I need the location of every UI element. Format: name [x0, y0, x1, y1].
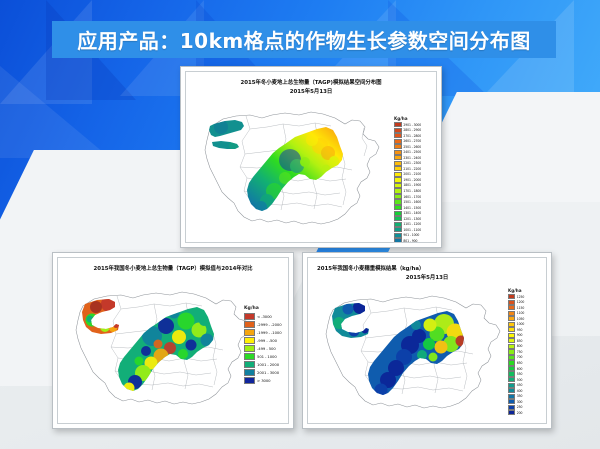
- legend-row: 2601 - 2700: [394, 139, 421, 144]
- china-map-tagp: [192, 98, 388, 238]
- legend-label: -2999 - -2000: [257, 322, 282, 327]
- legend-row: > 3000: [244, 377, 282, 384]
- legend-swatch: [508, 410, 515, 415]
- legend-label: 1001 - 2000: [257, 362, 279, 367]
- legend-swatch: [394, 216, 402, 221]
- legend-row: 600: [508, 366, 524, 371]
- legend-label: 1100: [517, 311, 524, 315]
- legend-row: 500: [508, 377, 524, 382]
- legend-swatch: [244, 353, 255, 360]
- legend-swatch: [394, 128, 402, 133]
- legend-row: 2401 - 2500: [394, 150, 421, 155]
- legend-swatch: [244, 313, 255, 320]
- legend-swatch: [394, 199, 402, 204]
- legend-swatch: [508, 405, 515, 410]
- legend-label: 1001 - 1100: [403, 228, 421, 232]
- legend-row: 700: [508, 355, 524, 360]
- panel-top-title-line2: 2015年5月13日: [186, 88, 436, 96]
- legend-swatch: [508, 316, 515, 321]
- legend-label: 350: [517, 394, 523, 398]
- panel-inner: 2015年我国冬小麦地上总生物量（TAGP）模拟值与2014年对比: [57, 257, 289, 424]
- legend-label: 2601 - 2700: [403, 139, 421, 143]
- legend-label: 901 - 1000: [403, 233, 419, 237]
- legend-row: 1301 - 1400: [394, 211, 421, 216]
- legend-row: 1150: [508, 305, 524, 310]
- legend-swatch: [394, 155, 402, 160]
- legend-label: 1701 - 1800: [403, 189, 421, 193]
- legend-label: > 3000: [257, 378, 270, 383]
- slide-title-bar: 应用产品：10km格点的作物生长参数空间分布图: [52, 21, 556, 58]
- legend-row: -1999 - -1000: [244, 329, 282, 336]
- legend-swatch: [394, 205, 402, 210]
- page-title: 应用产品：10km格点的作物生长参数空间分布图: [77, 25, 530, 54]
- legend-label: 2201 - 2300: [403, 161, 421, 165]
- legend-swatch: [394, 144, 402, 149]
- legend-swatch: [508, 399, 515, 404]
- legend-label: 250: [517, 405, 523, 409]
- legend-label: 1501 - 1600: [403, 200, 421, 204]
- legend-row: 1201 - 1300: [394, 216, 421, 221]
- legend-label: -999 - -500: [257, 338, 277, 343]
- map-svg: [63, 278, 249, 418]
- legend-swatch: [508, 294, 515, 299]
- legend-label: 1101 - 1200: [403, 222, 421, 226]
- legend-label: 1201 - 1300: [403, 217, 421, 221]
- legend-row: 650: [508, 360, 524, 365]
- legend-swatch: [394, 227, 402, 232]
- legend-row: -499 - 500: [244, 345, 282, 352]
- legend-swatch: [508, 305, 515, 310]
- legend-swatch: [394, 183, 402, 188]
- legend-row: 2101 - 2200: [394, 166, 421, 171]
- legend-row: 1000: [508, 322, 524, 327]
- legend-swatch: [394, 222, 402, 227]
- legend-tagp-comparison: Kg/ha < -3000-2999 - -2000-1999 - -1000-…: [244, 306, 282, 385]
- legend-swatch: [394, 177, 402, 182]
- legend-label: 750: [517, 350, 523, 354]
- legend-label: -499 - 500: [257, 346, 276, 351]
- legend-swatch: [508, 349, 515, 354]
- legend-tagp-distribution: Kg/ha 2901 - 30002801 - 29002701 - 28002…: [394, 116, 421, 243]
- legend-row: 2501 - 2600: [394, 144, 421, 149]
- legend-row: 450: [508, 383, 524, 388]
- legend-row: 1050: [508, 316, 524, 321]
- legend-label: 600: [517, 367, 523, 371]
- legend-row: 1501 - 1600: [394, 199, 421, 204]
- legend-label: 1301 - 1400: [403, 211, 421, 215]
- legend-row: 2901 - 3000: [394, 122, 421, 127]
- legend-label: -1999 - -1000: [257, 330, 282, 335]
- legend-label: 850: [517, 339, 523, 343]
- legend-label: 2101 - 2200: [403, 167, 421, 171]
- legend-swatch: [394, 150, 402, 155]
- slide-canvas: 应用产品：10km格点的作物生长参数空间分布图 2015年冬小麦地上总生物量（T…: [0, 0, 600, 449]
- china-map-tagp-comparison: [63, 278, 249, 418]
- legend-row: 1601 - 1700: [394, 194, 421, 199]
- legend-label: 2701 - 2800: [403, 134, 421, 138]
- legend-label: 950: [517, 328, 523, 332]
- legend-row: 1801 - 1900: [394, 183, 421, 188]
- map-panel-tagp-comparison[interactable]: 2015年我国冬小麦地上总生物量（TAGP）模拟值与2014年对比: [52, 252, 294, 429]
- legend-swatch: [394, 233, 402, 238]
- panel-inner: 2015年冬小麦地上总生物量（TAGP)模拟结果空间分布图 2015年5月13日: [185, 71, 437, 243]
- legend-swatch: [508, 300, 515, 305]
- legend-label: 2001 - 3000: [257, 370, 279, 375]
- legend-rows: 2901 - 30002801 - 29002701 - 28002601 - …: [394, 122, 421, 243]
- panel-inner: 2015年我国冬小麦穗重模拟结果（kg/ha） 2015年5月13日: [307, 257, 547, 424]
- legend-swatch: [394, 166, 402, 171]
- legend-swatch: [244, 337, 255, 344]
- legend-row: 250: [508, 405, 524, 410]
- legend-label: 1150: [517, 306, 524, 310]
- legend-swatch: [244, 321, 255, 328]
- legend-label: 650: [517, 361, 523, 365]
- legend-label: 900: [517, 333, 523, 337]
- legend-row: 1101 - 1200: [394, 222, 421, 227]
- legend-label: 500: [517, 378, 523, 382]
- legend-swatch: [508, 360, 515, 365]
- legend-row: 1100: [508, 311, 524, 316]
- legend-label: 1250: [517, 295, 524, 299]
- legend-swatch: [394, 122, 402, 127]
- legend-label: 1801 - 1900: [403, 183, 421, 187]
- legend-swatch: [508, 394, 515, 399]
- legend-swatch: [394, 133, 402, 138]
- legend-rows: 1250120011501100105010009509008508007507…: [508, 294, 524, 415]
- legend-swatch: [508, 377, 515, 382]
- panel-bl-title-line1: 2015年我国冬小麦地上总生物量（TAGP）模拟值与2014年对比: [58, 265, 288, 273]
- china-map-ear-weight: [313, 282, 503, 420]
- legend-row: 2701 - 2800: [394, 133, 421, 138]
- legend-swatch: [394, 211, 402, 216]
- legend-row: 501 - 1000: [244, 353, 282, 360]
- legend-row: 901 - 1000: [394, 233, 421, 238]
- legend-label: 2801 - 2900: [403, 128, 421, 132]
- legend-row: 350: [508, 394, 524, 399]
- legend-row: 1901 - 2000: [394, 177, 421, 182]
- legend-row: 2001 - 3000: [244, 369, 282, 376]
- legend-swatch: [244, 361, 255, 368]
- legend-ear-weight: Kg/ha 1250120011501100105010009509008508…: [508, 288, 524, 416]
- legend-swatch: [394, 161, 402, 166]
- legend-row: 550: [508, 371, 524, 376]
- legend-label: 2901 - 3000: [403, 123, 421, 127]
- legend-label: 2301 - 2400: [403, 156, 421, 160]
- legend-row: 900: [508, 333, 524, 338]
- map-svg: [192, 98, 388, 238]
- legend-label: 300: [517, 400, 523, 404]
- legend-unit: Kg/ha: [394, 116, 421, 121]
- legend-unit: Kg/ha: [508, 288, 524, 293]
- legend-row: 800: [508, 344, 524, 349]
- legend-swatch: [508, 333, 515, 338]
- legend-swatch: [508, 311, 515, 316]
- legend-label: 1401 - 1500: [403, 206, 421, 210]
- map-svg: [313, 282, 503, 420]
- legend-row: 1401 - 1500: [394, 205, 421, 210]
- legend-row: 801 - 900: [394, 238, 421, 243]
- legend-label: 2001 - 2100: [403, 172, 421, 176]
- legend-label: 200: [517, 411, 523, 415]
- legend-swatch: [394, 172, 402, 177]
- legend-label: 1000: [517, 322, 524, 326]
- legend-row: 1001 - 2000: [244, 361, 282, 368]
- legend-row: 2001 - 2100: [394, 172, 421, 177]
- legend-label: 800: [517, 344, 523, 348]
- legend-label: 2401 - 2500: [403, 150, 421, 154]
- legend-swatch: [508, 388, 515, 393]
- legend-row: -2999 - -2000: [244, 321, 282, 328]
- legend-swatch: [508, 338, 515, 343]
- legend-swatch: [508, 327, 515, 332]
- legend-label: 801 - 900: [403, 239, 417, 243]
- legend-swatch: [244, 329, 255, 336]
- legend-swatch: [508, 322, 515, 327]
- legend-row: 2801 - 2900: [394, 128, 421, 133]
- legend-swatch: [394, 238, 402, 243]
- legend-row: 2301 - 2400: [394, 155, 421, 160]
- legend-label: 400: [517, 389, 523, 393]
- legend-row: 1701 - 1800: [394, 188, 421, 193]
- legend-row: 1200: [508, 300, 524, 305]
- legend-label: 1200: [517, 300, 524, 304]
- legend-row: 1250: [508, 294, 524, 299]
- legend-swatch: [244, 377, 255, 384]
- legend-row: < -3000: [244, 313, 282, 320]
- panel-top-title-line1: 2015年冬小麦地上总生物量（TAGP)模拟结果空间分布图: [186, 79, 436, 87]
- legend-swatch: [394, 194, 402, 199]
- legend-swatch: [394, 188, 402, 193]
- legend-swatch: [508, 366, 515, 371]
- legend-row: 200: [508, 410, 524, 415]
- legend-label: 501 - 1000: [257, 354, 277, 359]
- legend-swatch: [394, 139, 402, 144]
- legend-row: 750: [508, 349, 524, 354]
- legend-row: 400: [508, 388, 524, 393]
- legend-label: 550: [517, 372, 523, 376]
- legend-row: 850: [508, 338, 524, 343]
- legend-label: 2501 - 2600: [403, 145, 421, 149]
- legend-unit: Kg/ha: [244, 306, 282, 311]
- map-panel-tagp-distribution[interactable]: 2015年冬小麦地上总生物量（TAGP)模拟结果空间分布图 2015年5月13日: [180, 66, 442, 248]
- legend-row: 300: [508, 399, 524, 404]
- legend-rows: < -3000-2999 - -2000-1999 - -1000-999 - …: [244, 313, 282, 385]
- legend-swatch: [508, 355, 515, 360]
- legend-row: 2201 - 2300: [394, 161, 421, 166]
- legend-swatch: [508, 371, 515, 376]
- legend-label: 1901 - 2000: [403, 178, 421, 182]
- legend-swatch: [508, 383, 515, 388]
- legend-label: 450: [517, 383, 523, 387]
- legend-row: 1001 - 1100: [394, 227, 421, 232]
- legend-swatch: [244, 345, 255, 352]
- legend-label: 1601 - 1700: [403, 195, 421, 199]
- legend-swatch: [508, 344, 515, 349]
- panel-br-title-line1: 2015年我国冬小麦穗重模拟结果（kg/ha）: [308, 265, 546, 273]
- legend-label: < -3000: [257, 314, 272, 319]
- legend-label: 1050: [517, 317, 524, 321]
- map-panel-ear-weight[interactable]: 2015年我国冬小麦穗重模拟结果（kg/ha） 2015年5月13日: [302, 252, 552, 429]
- legend-row: -999 - -500: [244, 337, 282, 344]
- legend-row: 950: [508, 327, 524, 332]
- legend-label: 700: [517, 355, 523, 359]
- decorative-triangle: [0, 66, 110, 158]
- legend-swatch: [244, 369, 255, 376]
